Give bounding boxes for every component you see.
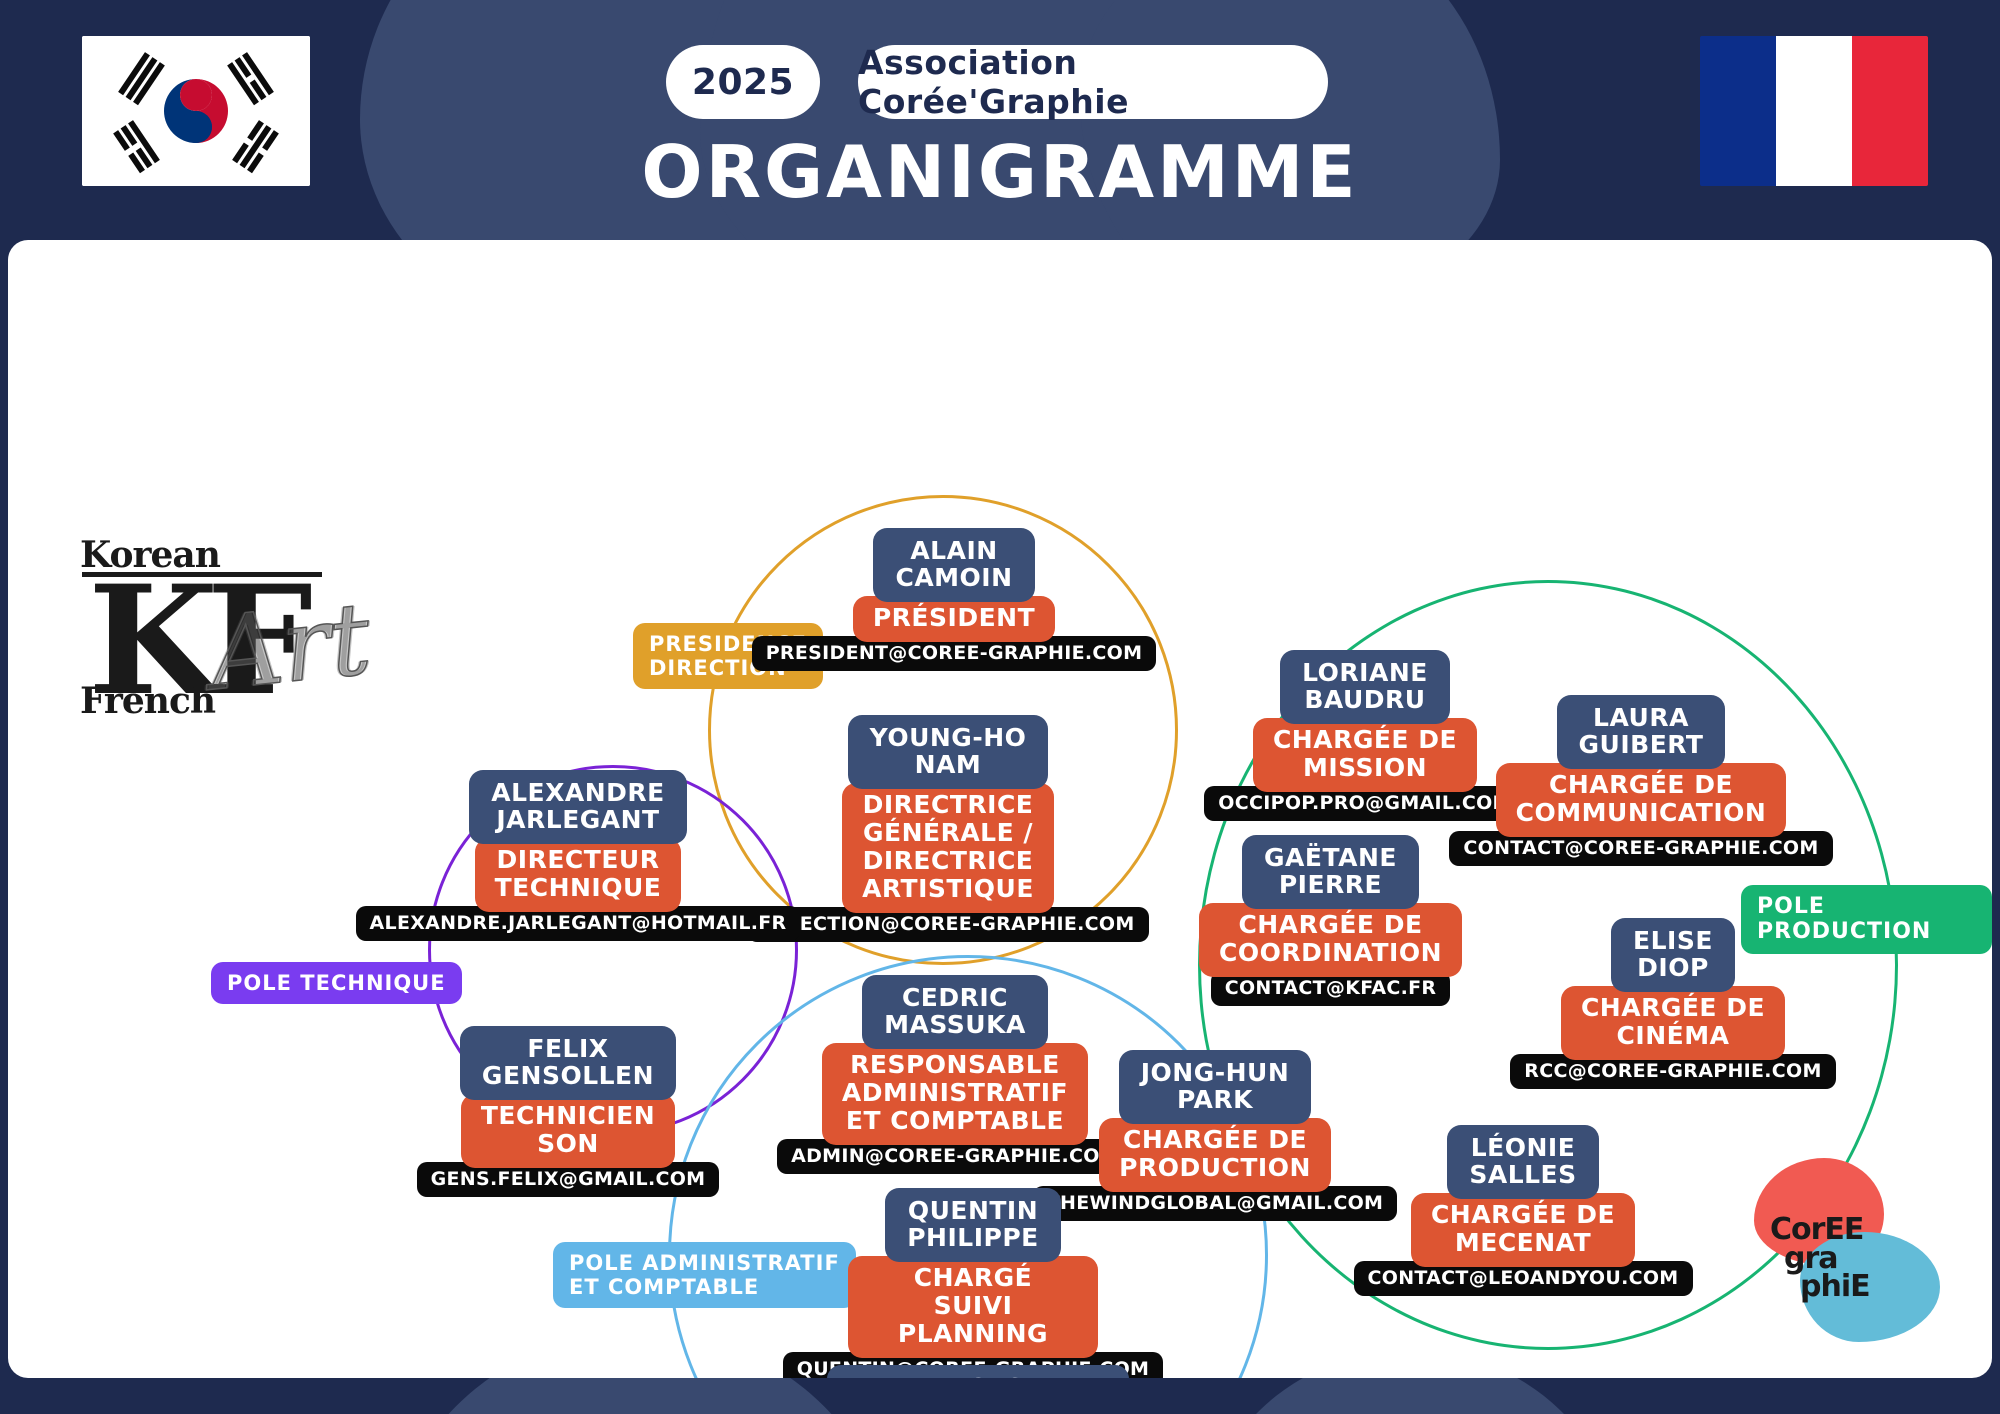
poster-root: 2025 Association Corée'Graphie ORGANIGRA…: [0, 0, 2000, 1414]
person-role: CHARGÉE DE CINÉMA: [1561, 986, 1785, 1060]
person-card-young-ho-nam[interactable]: YOUNG-HO NAM DIRECTRICE GÉNÉRALE / DIREC…: [808, 715, 1088, 942]
person-card-elise-diop[interactable]: ELISE DIOP CHARGÉE DE CINÉMA RCC@COREE-G…: [1558, 918, 1788, 1089]
person-name: QUENTIN PHILIPPE: [885, 1188, 1061, 1262]
person-name: ELISE DIOP: [1611, 918, 1735, 992]
pole-label-technique[interactable]: POLE TECHNIQUE: [211, 962, 462, 1004]
person-role: PRÉSIDENT: [853, 596, 1055, 642]
person-role: CHARGÉE DE MECENAT: [1411, 1193, 1635, 1267]
person-role: RESPONSABLE ADMINISTRATIF ET COMPTABLE: [822, 1043, 1088, 1145]
coree-graphie-logo: CorEE gra phiE: [1748, 1158, 1948, 1348]
person-name: JONG-HUN PARK: [1119, 1050, 1312, 1124]
person-card-leonie-salles[interactable]: LÉONIE SALLES CHARGÉE DE MECENAT CONTACT…: [1408, 1125, 1638, 1296]
person-name: LAURA GUIBERT: [1557, 695, 1726, 769]
chart-canvas: Korean KF Art French PRESIDENCE DIRECTIO…: [8, 240, 1992, 1378]
association-badge: Association Corée'Graphie: [858, 45, 1328, 119]
person-name: YOUNG-HO NAM: [848, 715, 1049, 789]
person-name: GAËTANE PIERRE: [1242, 835, 1419, 909]
person-role: CHARGÉE DE MISSION: [1253, 718, 1477, 792]
person-card-lucas-bendabdellaziz[interactable]: LUCAS BENDABDELLAZIZ SERVICE CIVIQUE CON…: [853, 1365, 1103, 1378]
person-role: CHARGÉE DE PRODUCTION: [1099, 1118, 1331, 1192]
year-badge: 2025: [666, 45, 820, 119]
person-role: CHARGÉE DE COMMUNICATION: [1496, 763, 1787, 837]
person-card-alain-camoin[interactable]: ALAIN CAMOIN PRÉSIDENT PRESIDENT@COREE-G…: [814, 528, 1094, 671]
person-card-alexandre-jarlegant[interactable]: ALEXANDRE JARLEGANT DIRECTEUR TECHNIQUE …: [393, 770, 763, 941]
person-card-quentin-philippe[interactable]: QUENTIN PHILIPPE CHARGÉ SUIVI PLANNING Q…: [848, 1188, 1098, 1378]
person-name: LORIANE BAUDRU: [1280, 650, 1450, 724]
person-name: ALAIN CAMOIN: [873, 528, 1034, 602]
person-card-laura-guibert[interactable]: LAURA GUIBERT CHARGÉE DE COMMUNICATION C…: [1511, 695, 1771, 866]
person-role: DIRECTEUR TECHNIQUE: [475, 838, 682, 912]
logo-french-label: French: [80, 680, 215, 722]
person-role: CHARGÉE DE COORDINATION: [1199, 903, 1462, 977]
person-name: ALEXANDRE JARLEGANT: [469, 770, 686, 844]
person-card-loriane-baudru[interactable]: LORIANE BAUDRU CHARGÉE DE MISSION OCCIPO…: [1250, 650, 1480, 821]
person-name: FELIX GENSOLLEN: [460, 1026, 676, 1100]
kfac-logo: Korean KF Art French: [70, 530, 360, 740]
person-card-felix-gensollen[interactable]: FELIX GENSOLLEN TECHNICIEN SON GENS.FELI…: [448, 1026, 688, 1197]
person-role: DIRECTRICE GÉNÉRALE / DIRECTRICE ARTISTI…: [842, 783, 1054, 913]
logo-word-line-3: phiE: [1800, 1273, 1870, 1302]
person-role: CHARGÉ SUIVI PLANNING: [848, 1256, 1098, 1358]
page-title: ORGANIGRAMME: [0, 130, 2000, 214]
person-name: CEDRIC MASSUKA: [862, 975, 1048, 1049]
person-name: LUCAS BENDABDELLAZIZ: [827, 1365, 1129, 1378]
pole-label-administratif[interactable]: POLE ADMINISTRATIF ET COMPTABLE: [553, 1242, 856, 1308]
person-card-jong-hun-park[interactable]: JONG-HUN PARK CHARGÉE DE PRODUCTION THEW…: [1100, 1050, 1330, 1221]
person-role: TECHNICIEN SON: [461, 1094, 675, 1168]
person-card-gaetane-pierre[interactable]: GAËTANE PIERRE CHARGÉE DE COORDINATION C…: [1213, 835, 1448, 1006]
logo-script-word: Art: [204, 580, 376, 713]
person-name: LÉONIE SALLES: [1447, 1125, 1598, 1199]
logo-wordmark: CorEE gra phiE: [1770, 1216, 1870, 1302]
person-card-cedric-massuka[interactable]: CEDRIC MASSUKA RESPONSABLE ADMINISTRATIF…: [830, 975, 1080, 1174]
